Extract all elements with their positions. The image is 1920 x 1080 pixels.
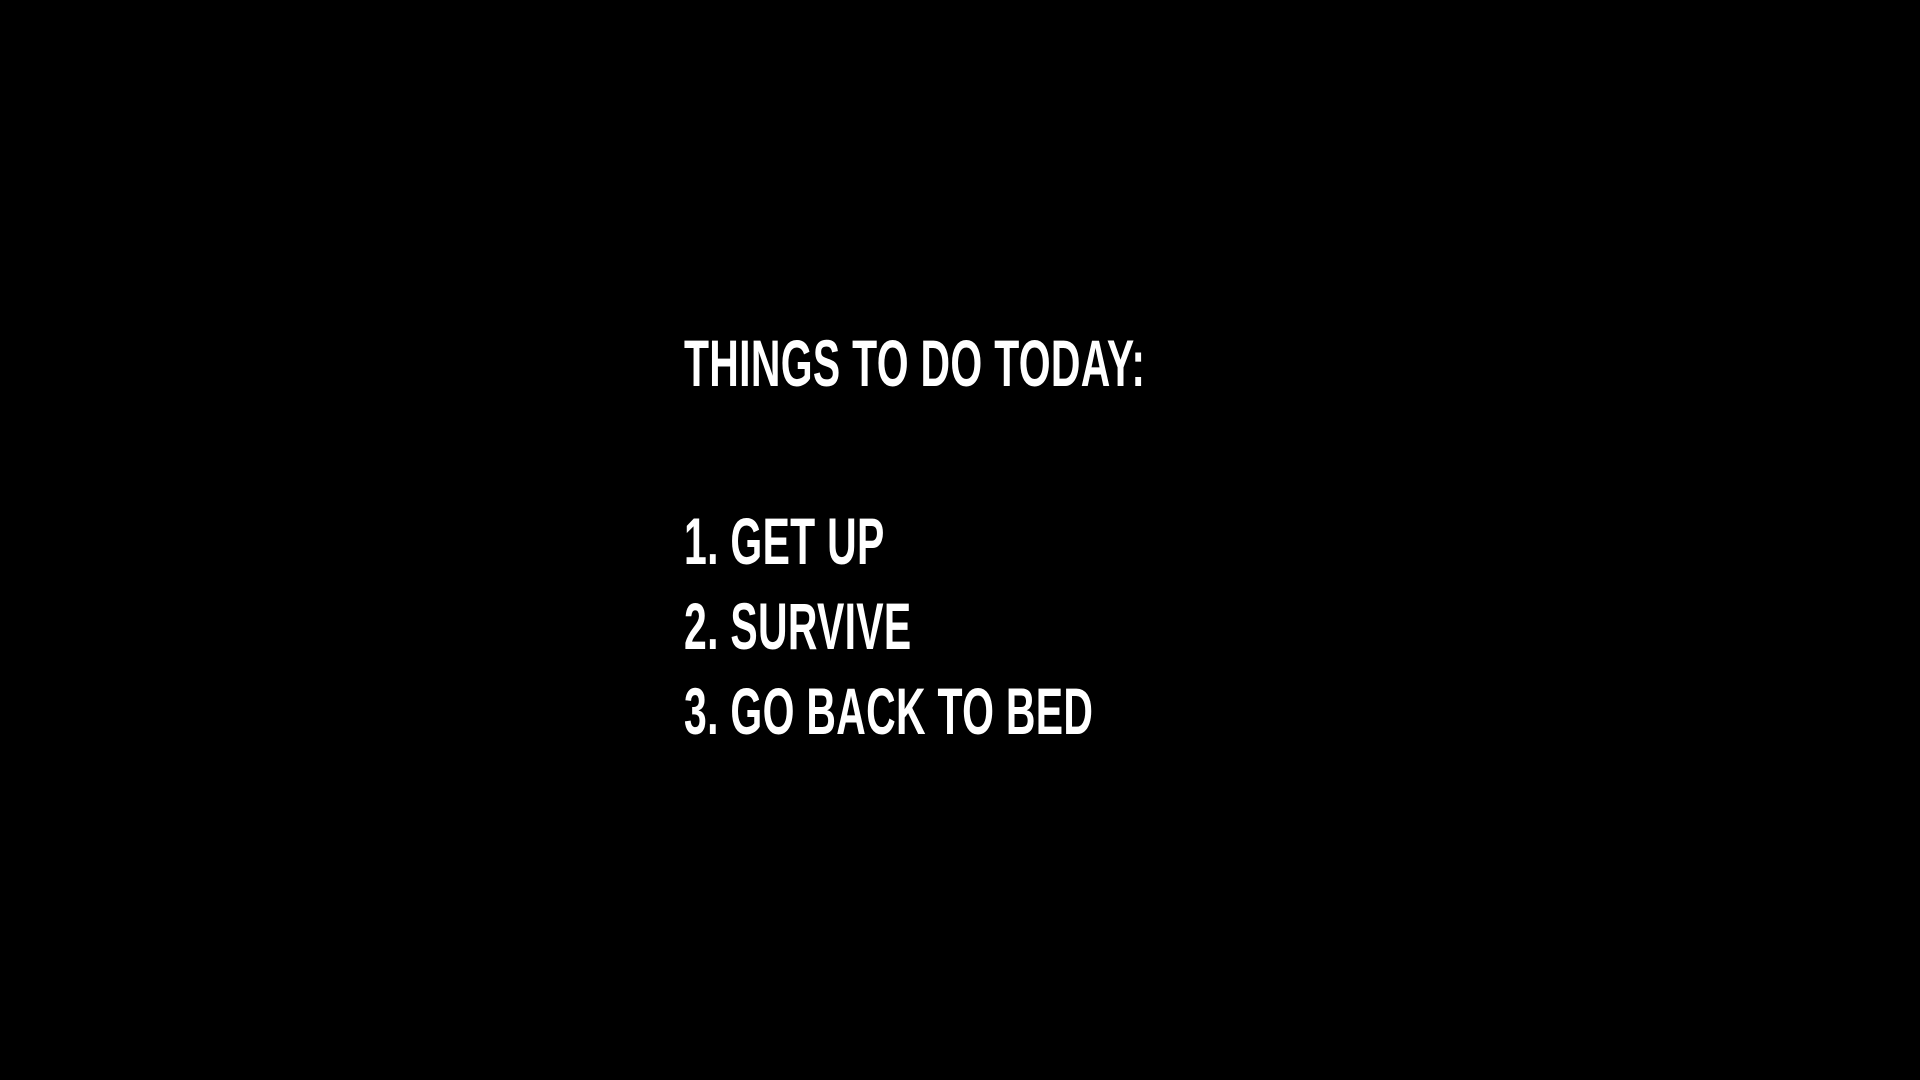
list-item: 1. GET UP: [684, 508, 1784, 593]
todo-list: 1. GET UP 2. SURVIVE 3. GO BACK TO BED: [684, 508, 1784, 763]
list-item: 3. GO BACK TO BED: [684, 678, 1784, 763]
todo-item-3-text: 3. GO BACK TO BED: [684, 678, 1366, 744]
todo-item-2-text: 2. SURVIVE: [684, 593, 1366, 659]
poster-canvas: THINGS TO DO TODAY: 1. GET UP 2. SURVIVE…: [0, 0, 1920, 1080]
todo-note-block: THINGS TO DO TODAY: 1. GET UP 2. SURVIVE…: [684, 330, 1784, 763]
page-title: THINGS TO DO TODAY:: [684, 330, 1366, 396]
todo-item-1-text: 1. GET UP: [684, 508, 1366, 574]
list-item: 2. SURVIVE: [684, 593, 1784, 678]
